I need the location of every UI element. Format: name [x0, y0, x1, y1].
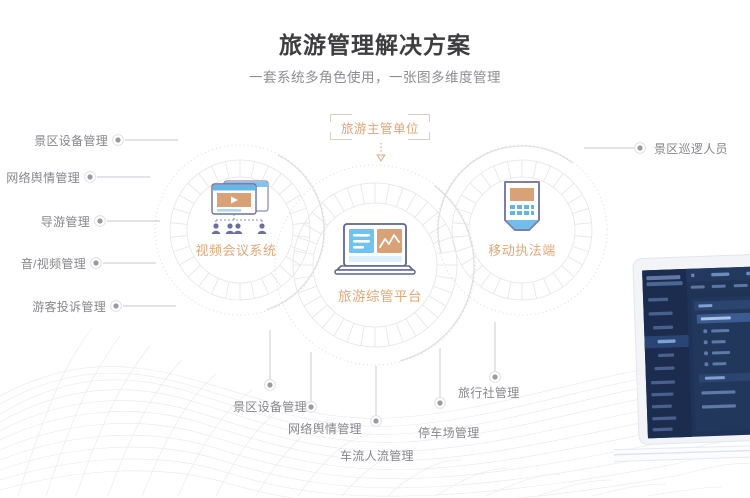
authority-arrow-icon: [375, 143, 387, 163]
node-label-tourism-platform: 旅游综管平台: [310, 285, 450, 305]
page-subtitle: 一套系统多角色使用，一张图多维度管理: [0, 66, 750, 86]
authority-box: 旅游主管单位: [330, 114, 430, 140]
handheld-terminal-icon: [499, 180, 545, 236]
connector-label-right-0: 景区巡逻人员: [654, 140, 728, 157]
connector-label-left-0: 景区设备管理: [0, 132, 108, 149]
connector-label-left-3: 音/视频管理: [0, 255, 86, 272]
connector-label-left-2: 导游管理: [0, 213, 90, 230]
connector-label-bottom-4: 旅行社管理: [458, 384, 520, 401]
connector-label-left-4: 游客投诉管理: [0, 298, 106, 315]
connector-label-bottom-2: 车流人流管理: [340, 447, 414, 464]
node-label-video-conference: 视频会议系统: [176, 240, 296, 259]
node-label-mobile-enforcement: 移动执法端: [462, 240, 582, 259]
connector-label-left-1: 网络舆情管理: [0, 169, 80, 186]
infographic-canvas: 旅游管理解决方案 一套系统多角色使用，一张图多维度管理 旅游主管单位: [0, 0, 750, 498]
laptop-dashboard-icon: [333, 222, 417, 284]
connector-label-bottom-3: 停车场管理: [418, 424, 480, 441]
page-title: 旅游管理解决方案: [0, 26, 750, 60]
authority-label: 旅游主管单位: [330, 114, 430, 140]
video-window-icon: [206, 178, 274, 236]
connector-label-bottom-1: 网络舆情管理: [288, 420, 362, 437]
laptop-device-mockup: [614, 252, 750, 467]
connector-label-bottom-0: 景区设备管理: [233, 398, 307, 415]
